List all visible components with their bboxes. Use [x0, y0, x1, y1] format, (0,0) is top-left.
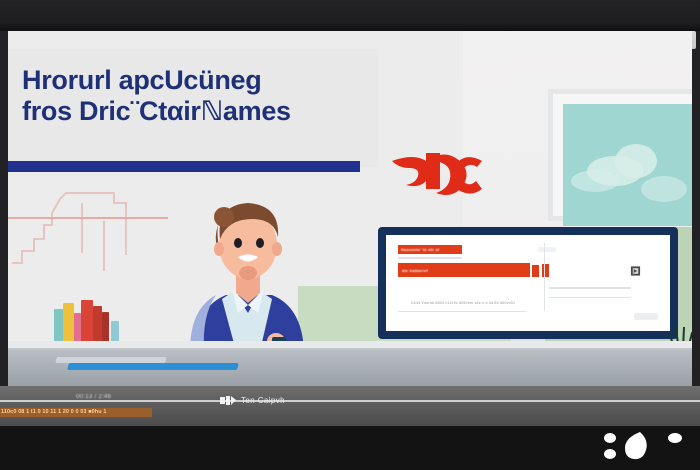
cloud-shape — [615, 144, 657, 178]
video-player-stage: rvp uu4ndlaudeuv u'122411v uuc — [0, 0, 700, 470]
ear — [272, 242, 282, 256]
slide-title-line-2: fros Dric¨Ctαirℕames — [22, 96, 372, 127]
form-divider-1 — [398, 257, 462, 259]
form-input-right[interactable] — [538, 247, 556, 252]
eye-right — [256, 238, 264, 248]
form-submit-button[interactable] — [634, 313, 658, 320]
video-frame[interactable]: Hrorurl apcUcüneg fros Dric¨Ctαirℕames — [8, 31, 692, 386]
player-code-text: 110c0 08 1 t1 0 10 11 1 20 0 0 03 ■0hu 1 — [0, 408, 152, 417]
book — [63, 303, 74, 343]
chin-shadow — [239, 266, 257, 280]
brand-logo — [386, 141, 492, 199]
slide-title-line-1: Hrorurl apcUcüneg — [22, 65, 372, 96]
wall-line-chart — [8, 159, 136, 291]
window — [548, 89, 692, 221]
player-code-strip: 110c0 08 1 t1 0 10 11 1 20 0 0 03 ■0hu 1 — [0, 408, 152, 417]
form-divider-4 — [398, 311, 526, 312]
book-stack — [54, 297, 126, 343]
window-pane — [563, 104, 692, 226]
book — [81, 300, 93, 343]
wall-chart-baseline — [8, 217, 168, 219]
book — [111, 321, 119, 343]
play-pause-icon[interactable] — [220, 395, 236, 406]
hair-bun — [214, 207, 234, 227]
cloud-shape — [571, 170, 619, 192]
ear — [214, 242, 224, 256]
keyboard — [67, 363, 239, 370]
cloud-shape — [641, 176, 687, 202]
form-divider-3 — [549, 297, 631, 298]
form-panel-divider — [544, 243, 545, 311]
form-field-1-text: Ilsuconte' te otr sf — [401, 247, 439, 252]
book — [54, 309, 63, 343]
book — [102, 312, 109, 343]
slide-poster: Hrorurl apcUcüneg fros Dric¨Ctαirℕames — [8, 49, 378, 167]
player-progress-track[interactable] — [0, 400, 700, 402]
form-field-2-text: ale Irablo=ef — [402, 268, 428, 273]
eye-left — [234, 238, 242, 248]
letterbox-bottom — [0, 426, 700, 470]
player-scrub-group[interactable]: Ten Caipvh — [220, 395, 285, 406]
desk-top-edge — [8, 341, 692, 348]
slide-title: Hrorurl apcUcüneg fros Dric¨Ctαirℕames — [22, 65, 372, 127]
pointer-icon — [630, 265, 641, 277]
monitor: Ilsuconte' te otr sf ale Irablo=ef — [378, 227, 678, 339]
letterbox-top — [0, 0, 700, 31]
form-divider-2 — [549, 287, 631, 289]
book — [93, 306, 102, 343]
form-highlight-3 — [532, 265, 539, 277]
player-scrub-label: Ten Caipvh — [241, 396, 285, 405]
form-footnote: -0444 Vnorne 8804 n1119v 8050vrn s1e n s… — [410, 301, 515, 305]
player-controls[interactable]: 00:13 / 2:46 Ten Caipvh 110c0 08 1 t1 0 … — [0, 386, 700, 426]
slide-title-underline — [8, 161, 360, 172]
book — [74, 313, 81, 343]
presenter-character — [168, 191, 328, 351]
monitor-screen[interactable]: Ilsuconte' te otr sf ale Irablo=ef — [386, 235, 670, 331]
decorative-blobs — [600, 430, 682, 464]
